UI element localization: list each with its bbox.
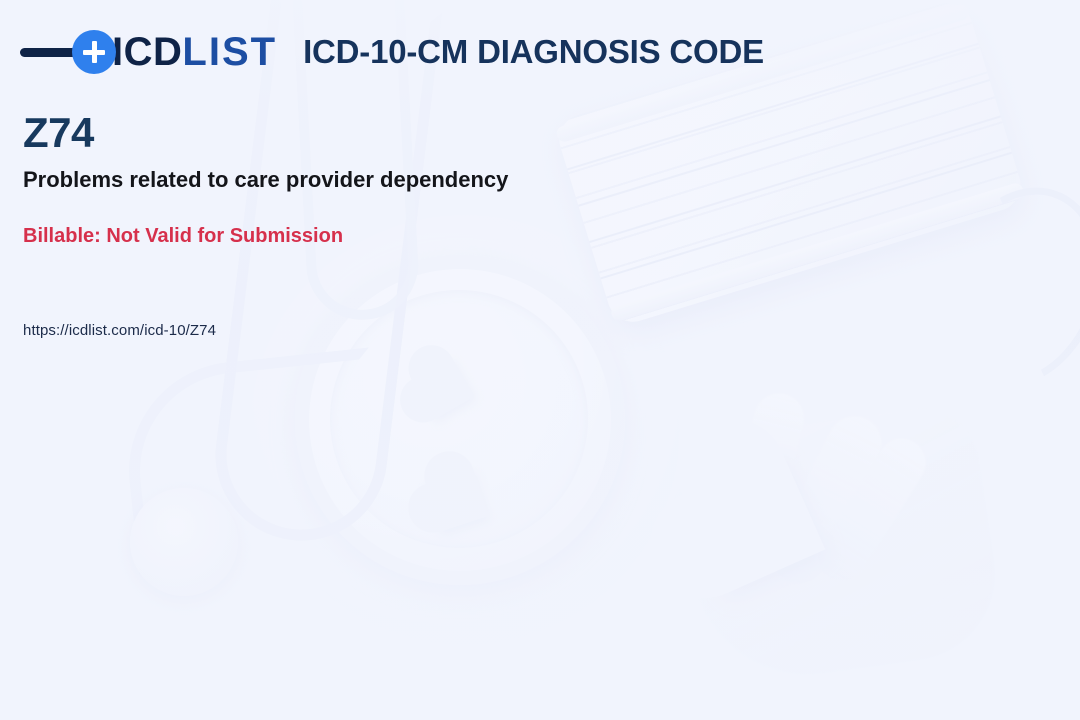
tray-shape (250, 215, 680, 645)
logo-word-icd: ICD (112, 30, 182, 74)
source-url[interactable]: https://icdlist.com/icd-10/Z74 (23, 322, 216, 339)
header: ICDLIST ICD-10-CM DIAGNOSIS CODE (20, 26, 764, 78)
mask-ear-loop-icon (915, 165, 1080, 409)
diagnosis-code: Z74 (23, 112, 94, 154)
finger-shape (763, 407, 890, 592)
stethoscope-bell-icon (295, 255, 625, 585)
finger-shape (725, 388, 810, 546)
paper-heart-icon (425, 468, 488, 531)
large-paper-heart-icon (683, 451, 826, 594)
stethoscope-earpiece-icon (130, 488, 238, 596)
background-photo (0, 0, 1080, 720)
icdlist-logo[interactable]: ICDLIST (20, 26, 277, 78)
dash-icon (20, 48, 80, 57)
paper-heart-icon (412, 357, 475, 420)
logo-word-list: LIST (182, 30, 277, 74)
page-title: ICD-10-CM DIAGNOSIS CODE (303, 33, 764, 71)
finger-shape (809, 429, 934, 590)
plus-badge-icon (72, 30, 116, 74)
stethoscope-bell-inner (330, 290, 588, 548)
stethoscope-tube-lower (118, 347, 390, 574)
billable-status-badge: Billable: Not Valid for Submission (23, 224, 343, 248)
diagnosis-description: Problems related to care provider depend… (23, 167, 508, 193)
logo-wordmark: ICDLIST (112, 32, 277, 72)
icd-code-card: ICDLIST ICD-10-CM DIAGNOSIS CODE Z74 Pro… (0, 0, 1080, 720)
hand-shape (674, 400, 1006, 689)
stethoscope-tube-icon (206, 0, 443, 550)
